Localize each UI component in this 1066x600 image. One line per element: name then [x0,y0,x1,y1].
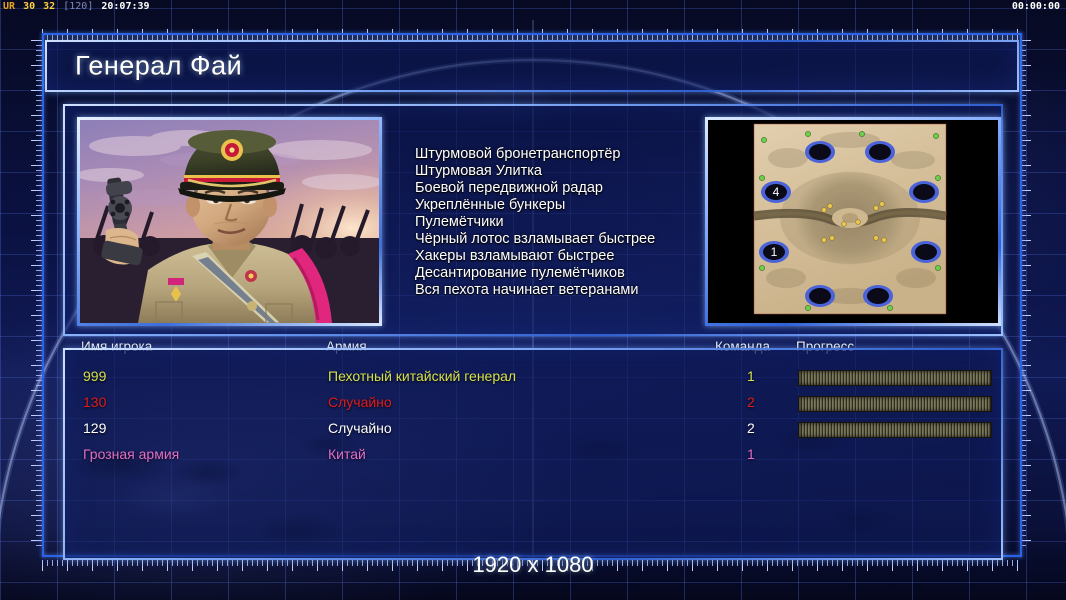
player-progress-bar [798,422,992,438]
player-team[interactable]: 2 [747,420,755,436]
player-progress-bar [798,370,992,386]
ability-item: Десантирование пулемётчиков [415,265,715,282]
ability-item: Вся пехота начинает ветеранами [415,282,715,299]
player-progress-bar [798,396,992,412]
player-name: 129 [83,420,106,436]
svg-text:1: 1 [771,245,778,259]
ruler-right [1020,40,1036,550]
svg-text:4: 4 [773,185,780,199]
page-title: Генерал Фай [75,51,242,82]
minimap-preview: 4 1 [708,120,992,322]
player-army[interactable]: Пехотный китайский генерал [328,368,516,384]
frame-bar-right [1020,33,1022,557]
game-screen: UR 30 32 [120] 20:07:39 00:00:00 Генерал… [0,0,1066,600]
table-row[interactable]: Грозная армия Китай 1 [65,444,1001,468]
resolution-label: 1920 x 1080 [0,552,1066,578]
player-team[interactable]: 1 [747,446,755,462]
osd-clock: 20:07:39 [100,1,150,12]
minimap-frame[interactable]: 4 1 [705,117,1001,326]
player-name: 999 [83,368,106,384]
ability-item: Хакеры взламывают быстрее [415,248,715,265]
player-name: Грозная армия [83,446,179,462]
roster-panel: 999 Пехотный китайский генерал 1 130 Слу… [63,348,1003,560]
osd-bracket: [120] [62,1,94,12]
osd-value-b: 32 [42,1,56,12]
player-name: 130 [83,394,106,410]
ability-item: Чёрный лотос взламывает быстрее [415,231,715,248]
ruler-left [26,40,42,550]
ability-item: Пулемётчики [415,214,715,231]
general-portrait [80,120,379,323]
osd-top-right: 00:00:00 [1012,1,1060,12]
ability-item: Штурмовой бронетранспортёр [415,146,715,163]
player-team[interactable]: 2 [747,394,755,410]
osd-value-a: 30 [22,1,36,12]
general-info-panel: Штурмовой бронетранспортёр Штурмовая Ули… [63,104,1003,336]
ability-item: Укреплённые бункеры [415,197,715,214]
ruler-top [42,24,1020,40]
table-row[interactable]: 130 Случайно 2 [65,392,1001,416]
title-panel: Генерал Фай [45,40,1019,92]
player-army[interactable]: Случайно [328,420,392,436]
ability-item: Боевой передвижной радар [415,180,715,197]
ability-list: Штурмовой бронетранспортёр Штурмовая Ули… [415,146,715,299]
frame-bar-top [42,33,1022,35]
osd-ur-label: UR [2,1,16,12]
player-team[interactable]: 1 [747,368,755,384]
table-row[interactable]: 129 Случайно 2 [65,418,1001,442]
player-army[interactable]: Случайно [328,394,392,410]
ability-item: Штурмовая Улитка [415,163,715,180]
osd-top-left: UR 30 32 [120] 20:07:39 [2,1,151,12]
frame-bar-left [42,33,44,557]
table-row[interactable]: 999 Пехотный китайский генерал 1 [65,366,1001,390]
player-army[interactable]: Китай [328,446,366,462]
general-portrait-frame [77,117,382,326]
